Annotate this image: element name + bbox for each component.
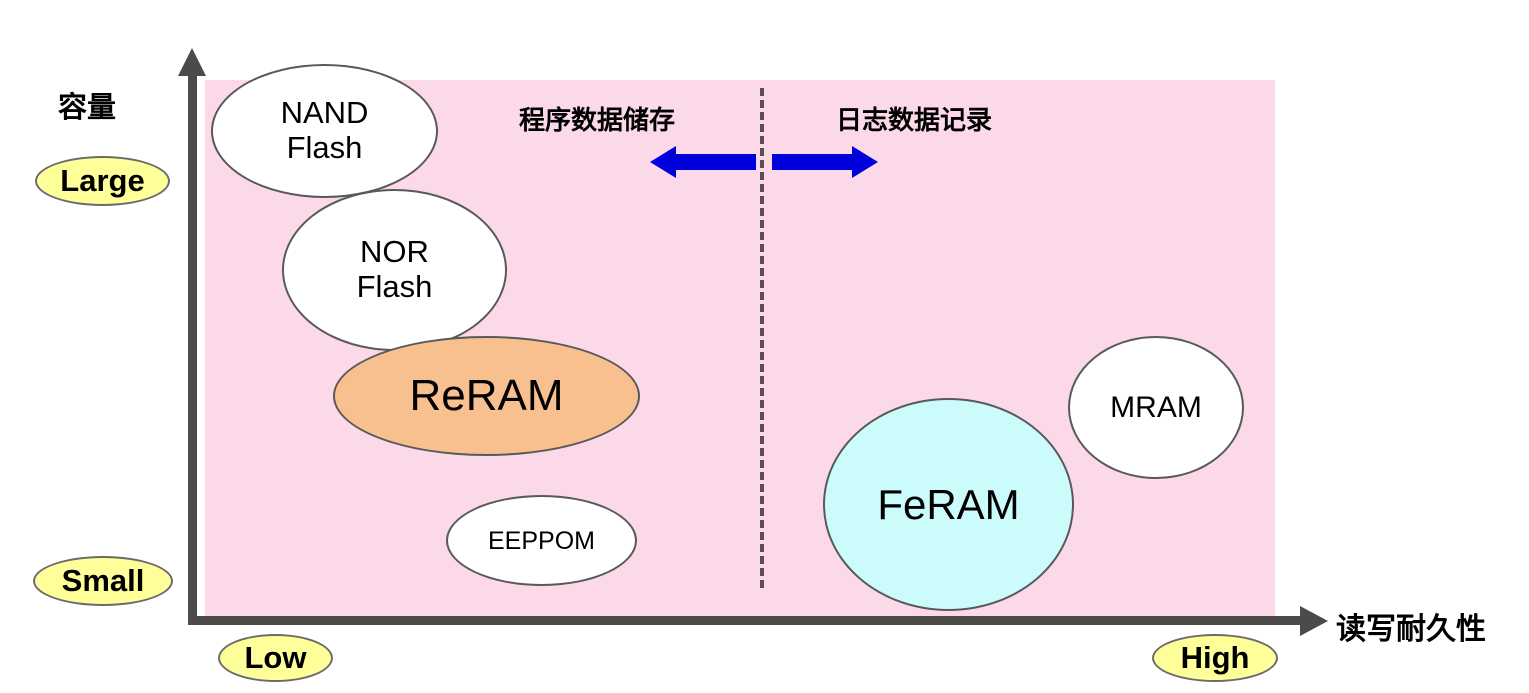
x-axis-high-label: High (1152, 634, 1278, 682)
bubble-reram: ReRAM (333, 336, 640, 456)
y-axis-arrowhead-icon (178, 48, 206, 76)
y-axis-low-label: Small (33, 556, 173, 606)
region-divider-line (760, 88, 764, 588)
diagram-canvas: 容量 读写耐久性 Large Small Low High 程序数据储存 日志数… (0, 0, 1529, 693)
bubble-nor-flash: NOR Flash (282, 189, 507, 351)
y-axis-line (188, 72, 197, 625)
region-label-program-data-storage: 程序数据储存 (519, 100, 675, 137)
bubble-feram: FeRAM (823, 398, 1074, 611)
right-arrow-icon (772, 145, 878, 179)
x-axis-line (188, 616, 1313, 625)
region-label-log-data-logging: 日志数据记录 (836, 100, 992, 137)
y-axis-title: 容量 (58, 84, 116, 126)
x-axis-title: 读写耐久性 (1336, 604, 1486, 648)
y-axis-high-label: Large (35, 156, 170, 206)
bubble-nand-flash: NAND Flash (211, 64, 438, 198)
x-axis-arrowhead-icon (1300, 606, 1328, 636)
bubble-mram: MRAM (1068, 336, 1244, 479)
left-arrow-icon (650, 145, 756, 179)
x-axis-low-label: Low (218, 634, 333, 682)
bubble-eeppom: EEPPOM (446, 495, 637, 586)
